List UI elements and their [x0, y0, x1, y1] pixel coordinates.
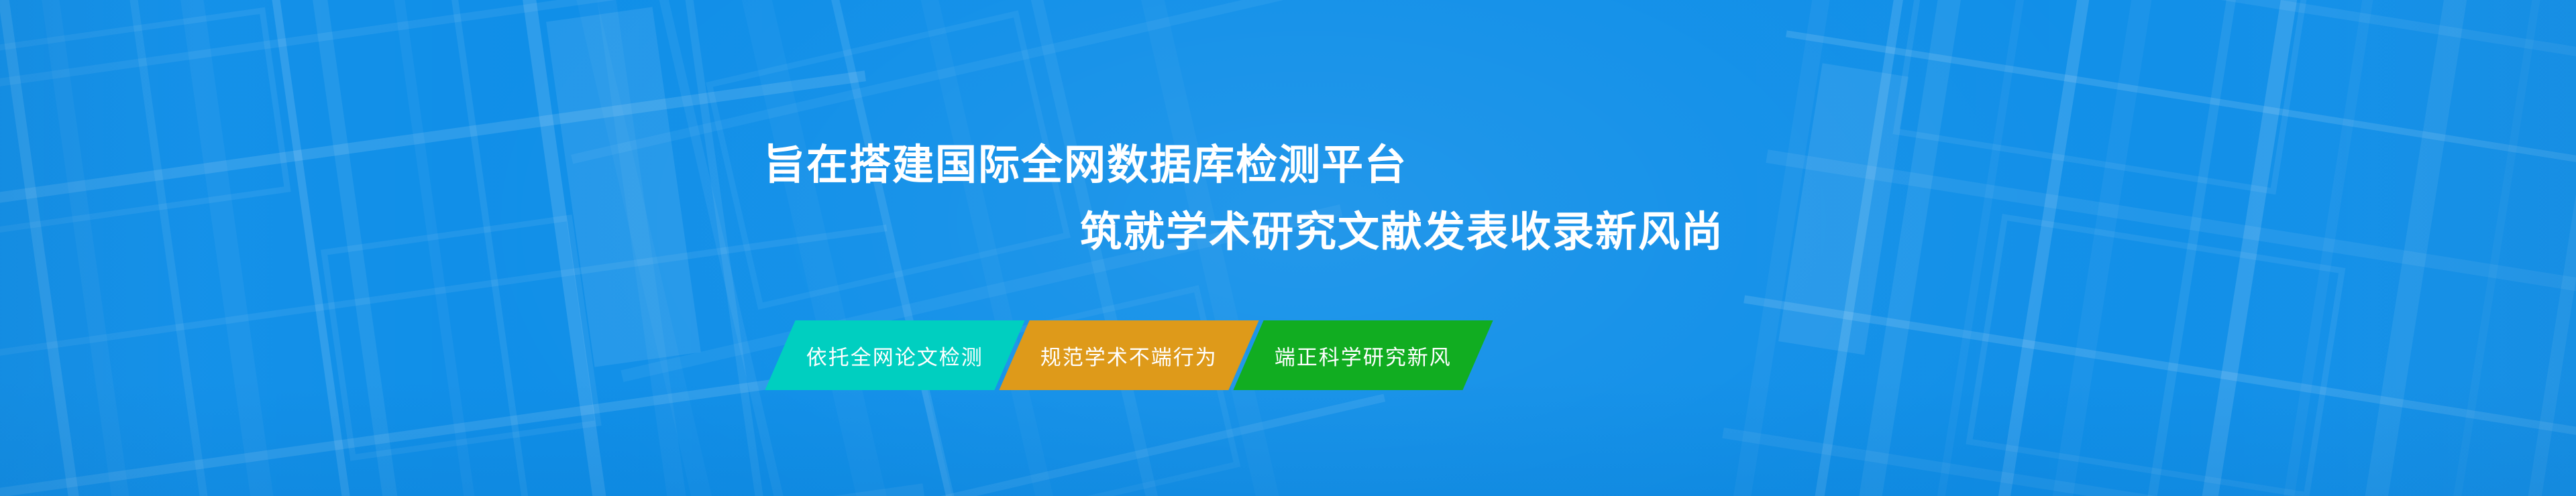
- feature-badge-label: 规范学术不端行为: [1040, 340, 1218, 371]
- hero-banner: 旨在搭建国际全网数据库检测平台 筑就学术研究文献发表收录新风尚 依托全网论文检测…: [0, 0, 2576, 496]
- headline-block: 旨在搭建国际全网数据库检测平台 筑就学术研究文献发表收录新风尚: [0, 131, 2576, 265]
- feature-badge-misconduct-regulation[interactable]: 规范学术不端行为: [999, 320, 1258, 390]
- feature-badge-label: 依托全网论文检测: [806, 340, 983, 371]
- headline-line-2: 筑就学术研究文献发表收录新风尚: [1080, 198, 2576, 265]
- feature-badge-label: 端正科学研究新风: [1275, 340, 1452, 371]
- headline-line-1: 旨在搭建国际全网数据库检测平台: [763, 131, 2576, 198]
- feature-badge-row: 依托全网论文检测 规范学术不端行为 端正科学研究新风: [780, 320, 1478, 390]
- feature-badge-research-ethos[interactable]: 端正科学研究新风: [1233, 320, 1493, 390]
- feature-badge-paper-detection[interactable]: 依托全网论文检测: [765, 320, 1024, 390]
